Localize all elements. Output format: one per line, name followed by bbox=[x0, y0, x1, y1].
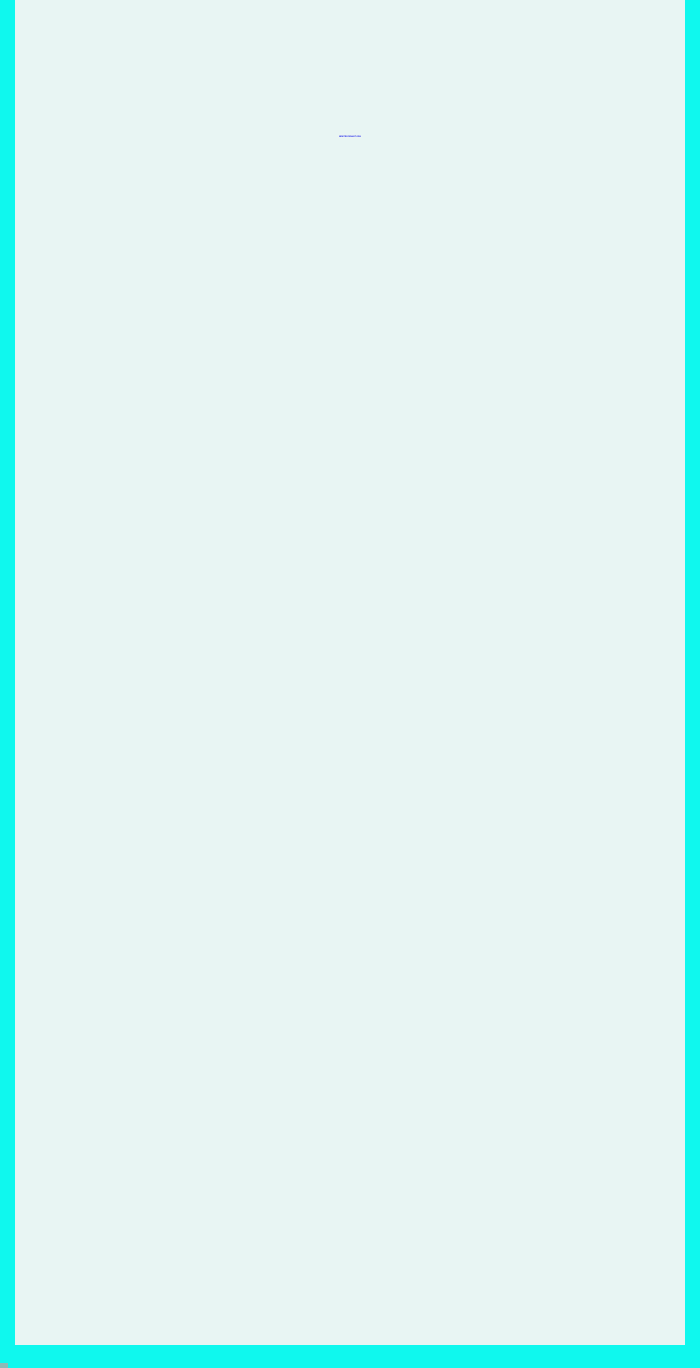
bottom-edge-sliver bbox=[0, 1363, 8, 1368]
promo-banner: HÃY ĐẾN VỚI NEWTRUYENHOT.ORG - CÁC CHAP … bbox=[0, 0, 700, 1368]
banner-panel: HÃY ĐẾN VỚI NEWTRUYENHOT.ORG - CÁC CHAP … bbox=[15, 0, 685, 1345]
site-url-headline[interactable]: NEWTRUYENHOT.ORG bbox=[15, 136, 685, 138]
